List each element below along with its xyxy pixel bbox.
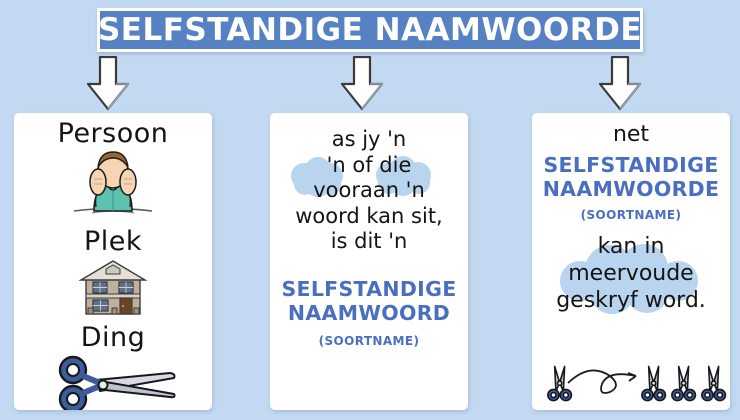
arrow-down-card-2 xyxy=(332,56,392,112)
card2-line-1: as jy 'n xyxy=(295,127,442,153)
card2-term: SELFSTANDIGE NAAMWOORD xyxy=(281,277,456,325)
card2-term-sub: (SOORTNAME) xyxy=(319,334,420,348)
card1-label-plek: Plek xyxy=(84,227,142,257)
arrow-down-card-1 xyxy=(78,56,138,112)
card3-line-2: meervoude xyxy=(556,261,706,288)
singular-to-plural-illustration xyxy=(532,356,730,406)
card2-line-3: vooraan 'n xyxy=(295,178,442,204)
arrow-down-card-3 xyxy=(590,56,650,112)
card2-line-5: is dit 'n xyxy=(295,229,442,255)
scissors-plural xyxy=(642,366,726,400)
scissors-icon xyxy=(48,353,178,410)
card2-sentence: as jy 'n 'n of die vooraan 'n woord kan … xyxy=(295,127,442,255)
house-icon xyxy=(76,256,150,322)
card2-term-line-1: SELFSTANDIGE xyxy=(281,277,456,301)
card3-term-line-1: SELFSTANDIGE xyxy=(543,153,720,177)
person-icon xyxy=(70,149,156,225)
scissors-singular xyxy=(548,366,572,400)
card-categories: Persoon xyxy=(14,113,212,410)
card3-line-1: kan in xyxy=(556,234,706,261)
card2-term-line-2: NAAMWOORD xyxy=(281,301,456,325)
card2-line-2: 'n of die xyxy=(295,153,442,179)
card3-term-line-2: NAAMWOORDE xyxy=(543,177,720,201)
card2-line-4: woord kan sit, xyxy=(295,204,442,230)
card-definition: as jy 'n 'n of die vooraan 'n woord kan … xyxy=(270,113,468,410)
card3-intro: net xyxy=(613,122,649,149)
card3-term-sub: (SOORTNAME) xyxy=(581,208,682,222)
card3-line-3: geskryf word. xyxy=(556,288,706,315)
card-plural: net SELFSTANDIGE NAAMWOORDE (SOORTNAME) … xyxy=(532,113,730,410)
title-banner: SELFSTANDIGE NAAMWOORDE xyxy=(97,8,643,52)
card3-sentence: kan in meervoude geskryf word. xyxy=(556,234,706,314)
card3-term: SELFSTANDIGE NAAMWOORDE xyxy=(543,153,720,201)
card1-label-ding: Ding xyxy=(81,323,146,353)
page-title: SELFSTANDIGE NAAMWOORDE xyxy=(98,12,642,48)
card1-label-persoon: Persoon xyxy=(58,119,169,149)
